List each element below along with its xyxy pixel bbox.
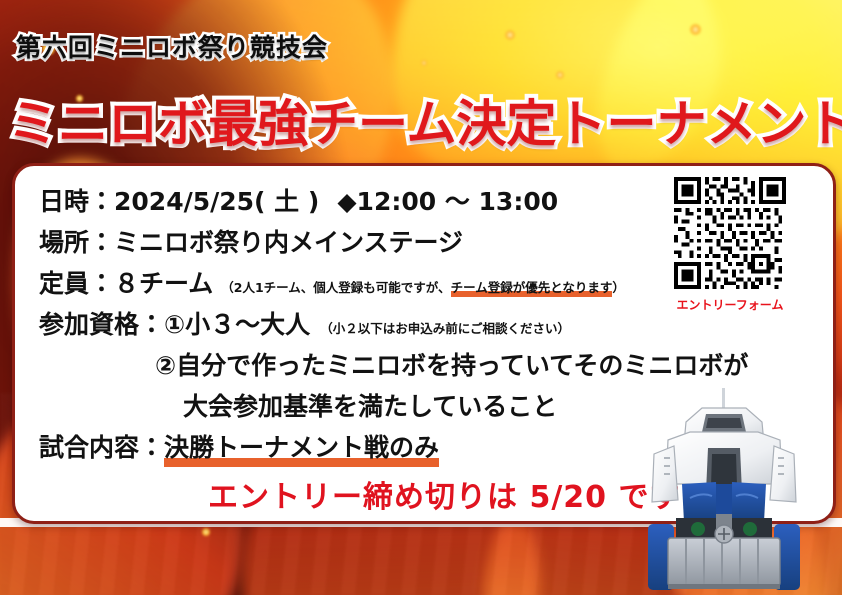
event-poster: 第六回ミニロボ祭り競技会 ミニロボ最強チーム決定トーナメント 日時：2024/5…: [0, 0, 842, 595]
place-label: 場所：: [39, 228, 114, 257]
qualification-label: 参加資格：: [39, 310, 164, 339]
spark-icon: [202, 528, 210, 536]
capacity-value: ８チーム: [114, 269, 213, 298]
qualification-item-1-note: （小２以下はお申込み前にご相談ください）: [310, 321, 570, 336]
capacity-note-suffix: ）: [612, 280, 625, 295]
capacity-label: 定員：: [39, 269, 114, 298]
entry-form-qr-block[interactable]: エントリーフォーム: [665, 177, 795, 313]
date-label: 日時：: [39, 187, 114, 216]
qr-code-icon[interactable]: [674, 177, 786, 289]
spark-icon: [505, 30, 515, 40]
detail-row-qualification-2b: 大会参加基準を満たしていること: [183, 387, 557, 423]
capacity-note-prefix: （2人1チーム、個人登録も可能ですが、: [213, 280, 450, 295]
detail-row-place: 場所：ミニロボ祭り内メインステージ: [39, 223, 463, 259]
date-time: 12:00 〜 13:00: [357, 187, 559, 216]
detail-row-date: 日時：2024/5/25( 土 )◆12:00 〜 13:00: [39, 182, 558, 218]
spark-icon: [421, 60, 427, 66]
match-label: 試合内容：: [39, 433, 164, 462]
qr-code-label: エントリーフォーム: [665, 296, 795, 313]
place-value: ミニロボ祭り内メインステージ: [114, 228, 463, 257]
detail-row-capacity: 定員：８チーム（2人1チーム、個人登録も可能ですが、チーム登録が優先となります）: [39, 264, 625, 300]
event-subtitle: 第六回ミニロボ祭り競技会: [16, 28, 328, 64]
entry-deadline: エントリー締め切りは 5/20 です: [208, 472, 680, 516]
date-value: 2024/5/25( 土 ): [114, 187, 319, 216]
qualification-item-1: ①小３〜大人: [164, 310, 310, 339]
detail-row-qualification-1: 参加資格：①小３〜大人（小２以下はお申込み前にご相談ください）: [39, 305, 570, 341]
capacity-note-highlight: チーム登録が優先となります: [451, 277, 613, 296]
event-main-title: ミニロボ最強チーム決定トーナメント: [8, 84, 842, 156]
detail-row-qualification-2a: ②自分で作ったミニロボを持っていてそのミニロボが: [155, 346, 748, 382]
mini-robot-icon: [624, 388, 824, 595]
match-value-highlight: 決勝トーナメント戦のみ: [164, 428, 439, 464]
time-marker-icon: ◆: [319, 187, 356, 216]
detail-row-match: 試合内容：決勝トーナメント戦のみ: [39, 428, 439, 464]
